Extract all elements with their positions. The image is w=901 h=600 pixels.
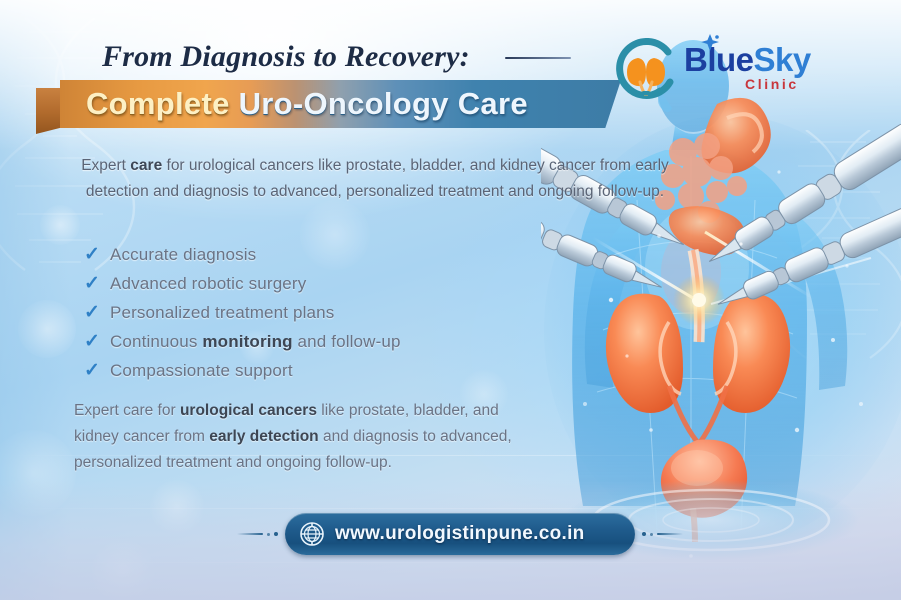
website-pill[interactable]: www.urologistinpune.co.in	[285, 513, 635, 555]
website-bar[interactable]: www.urologistinpune.co.in	[255, 513, 665, 555]
connector-dash	[657, 533, 683, 535]
connector-dot	[274, 532, 278, 536]
headline-rule	[505, 57, 571, 59]
list-item: ✓ Advanced robotic surgery	[84, 269, 504, 298]
logo-word-sky: Sky	[754, 41, 811, 78]
bokeh-decor	[0, 430, 76, 516]
scanline-decor	[0, 562, 901, 563]
intro-bold1: care	[130, 157, 162, 174]
bokeh-decor	[40, 205, 80, 245]
website-url: www.urologistinpune.co.in	[335, 523, 585, 545]
list-item-post: and follow-up	[293, 332, 401, 351]
list-item-label: Advanced robotic surgery	[110, 274, 306, 294]
connector-dot	[642, 532, 646, 536]
list-item-label: Continuous monitoring and follow-up	[110, 332, 401, 352]
list-item: ✓ Accurate diagnosis	[84, 240, 504, 269]
spark-icon	[699, 34, 721, 52]
bokeh-decor	[150, 480, 204, 534]
dna-helix-decor	[780, 130, 901, 360]
feature-list: ✓ Accurate diagnosis ✓ Advanced robotic …	[84, 240, 504, 385]
connector-dash	[237, 533, 263, 535]
body-part1: Expert care for	[74, 402, 180, 419]
list-item: ✓ Continuous monitoring and follow-up	[84, 327, 504, 356]
scanline-decor	[0, 508, 901, 509]
check-icon: ✓	[84, 274, 110, 293]
list-item-pre: Continuous	[110, 332, 202, 351]
connector-right-decor	[642, 532, 683, 536]
check-icon: ✓	[84, 361, 110, 380]
bokeh-decor	[18, 300, 76, 358]
check-icon: ✓	[84, 245, 110, 264]
poster-canvas: From Diagnosis to Recovery: Complete Uro…	[0, 0, 901, 600]
logo-subtitle: Clinic	[684, 76, 811, 92]
list-item-label: Accurate diagnosis	[110, 245, 256, 265]
brand-logo[interactable]: BlueSky Clinic	[612, 36, 862, 112]
globe-icon	[299, 521, 325, 547]
check-icon: ✓	[84, 303, 110, 322]
connector-dot	[650, 533, 653, 536]
bokeh-decor	[92, 540, 154, 600]
intro-part1: Expert	[81, 157, 130, 174]
body-bold1: urological cancers	[180, 402, 317, 419]
intro-part2: for urological cancers like prostate, bl…	[86, 157, 669, 200]
connector-dot	[267, 533, 270, 536]
list-item: ✓ Compassionate support	[84, 356, 504, 385]
list-item-bold: monitoring	[202, 332, 292, 351]
list-item-label: Compassionate support	[110, 361, 293, 381]
body-bold2: early detection	[209, 428, 318, 445]
banner-body: Complete Uro-Oncology Care	[60, 80, 621, 128]
connector-left-decor	[237, 532, 278, 536]
body-paragraph: Expert care for urological cancers like …	[74, 398, 524, 476]
headline-script: From Diagnosis to Recovery:	[102, 40, 572, 74]
banner-text: Complete Uro-Oncology Care	[86, 86, 528, 122]
list-item-label: Personalized treatment plans	[110, 303, 334, 323]
kidney-crescent-logo-icon	[612, 38, 678, 104]
intro-paragraph: Expert care for urological cancers like …	[70, 153, 680, 205]
check-icon: ✓	[84, 332, 110, 351]
banner-text-ice: Uro-Oncology Care	[239, 86, 528, 121]
list-item: ✓ Personalized treatment plans	[84, 298, 504, 327]
headline-banner: Complete Uro-Oncology Care	[36, 80, 621, 132]
banner-text-gold: Complete	[86, 86, 239, 121]
